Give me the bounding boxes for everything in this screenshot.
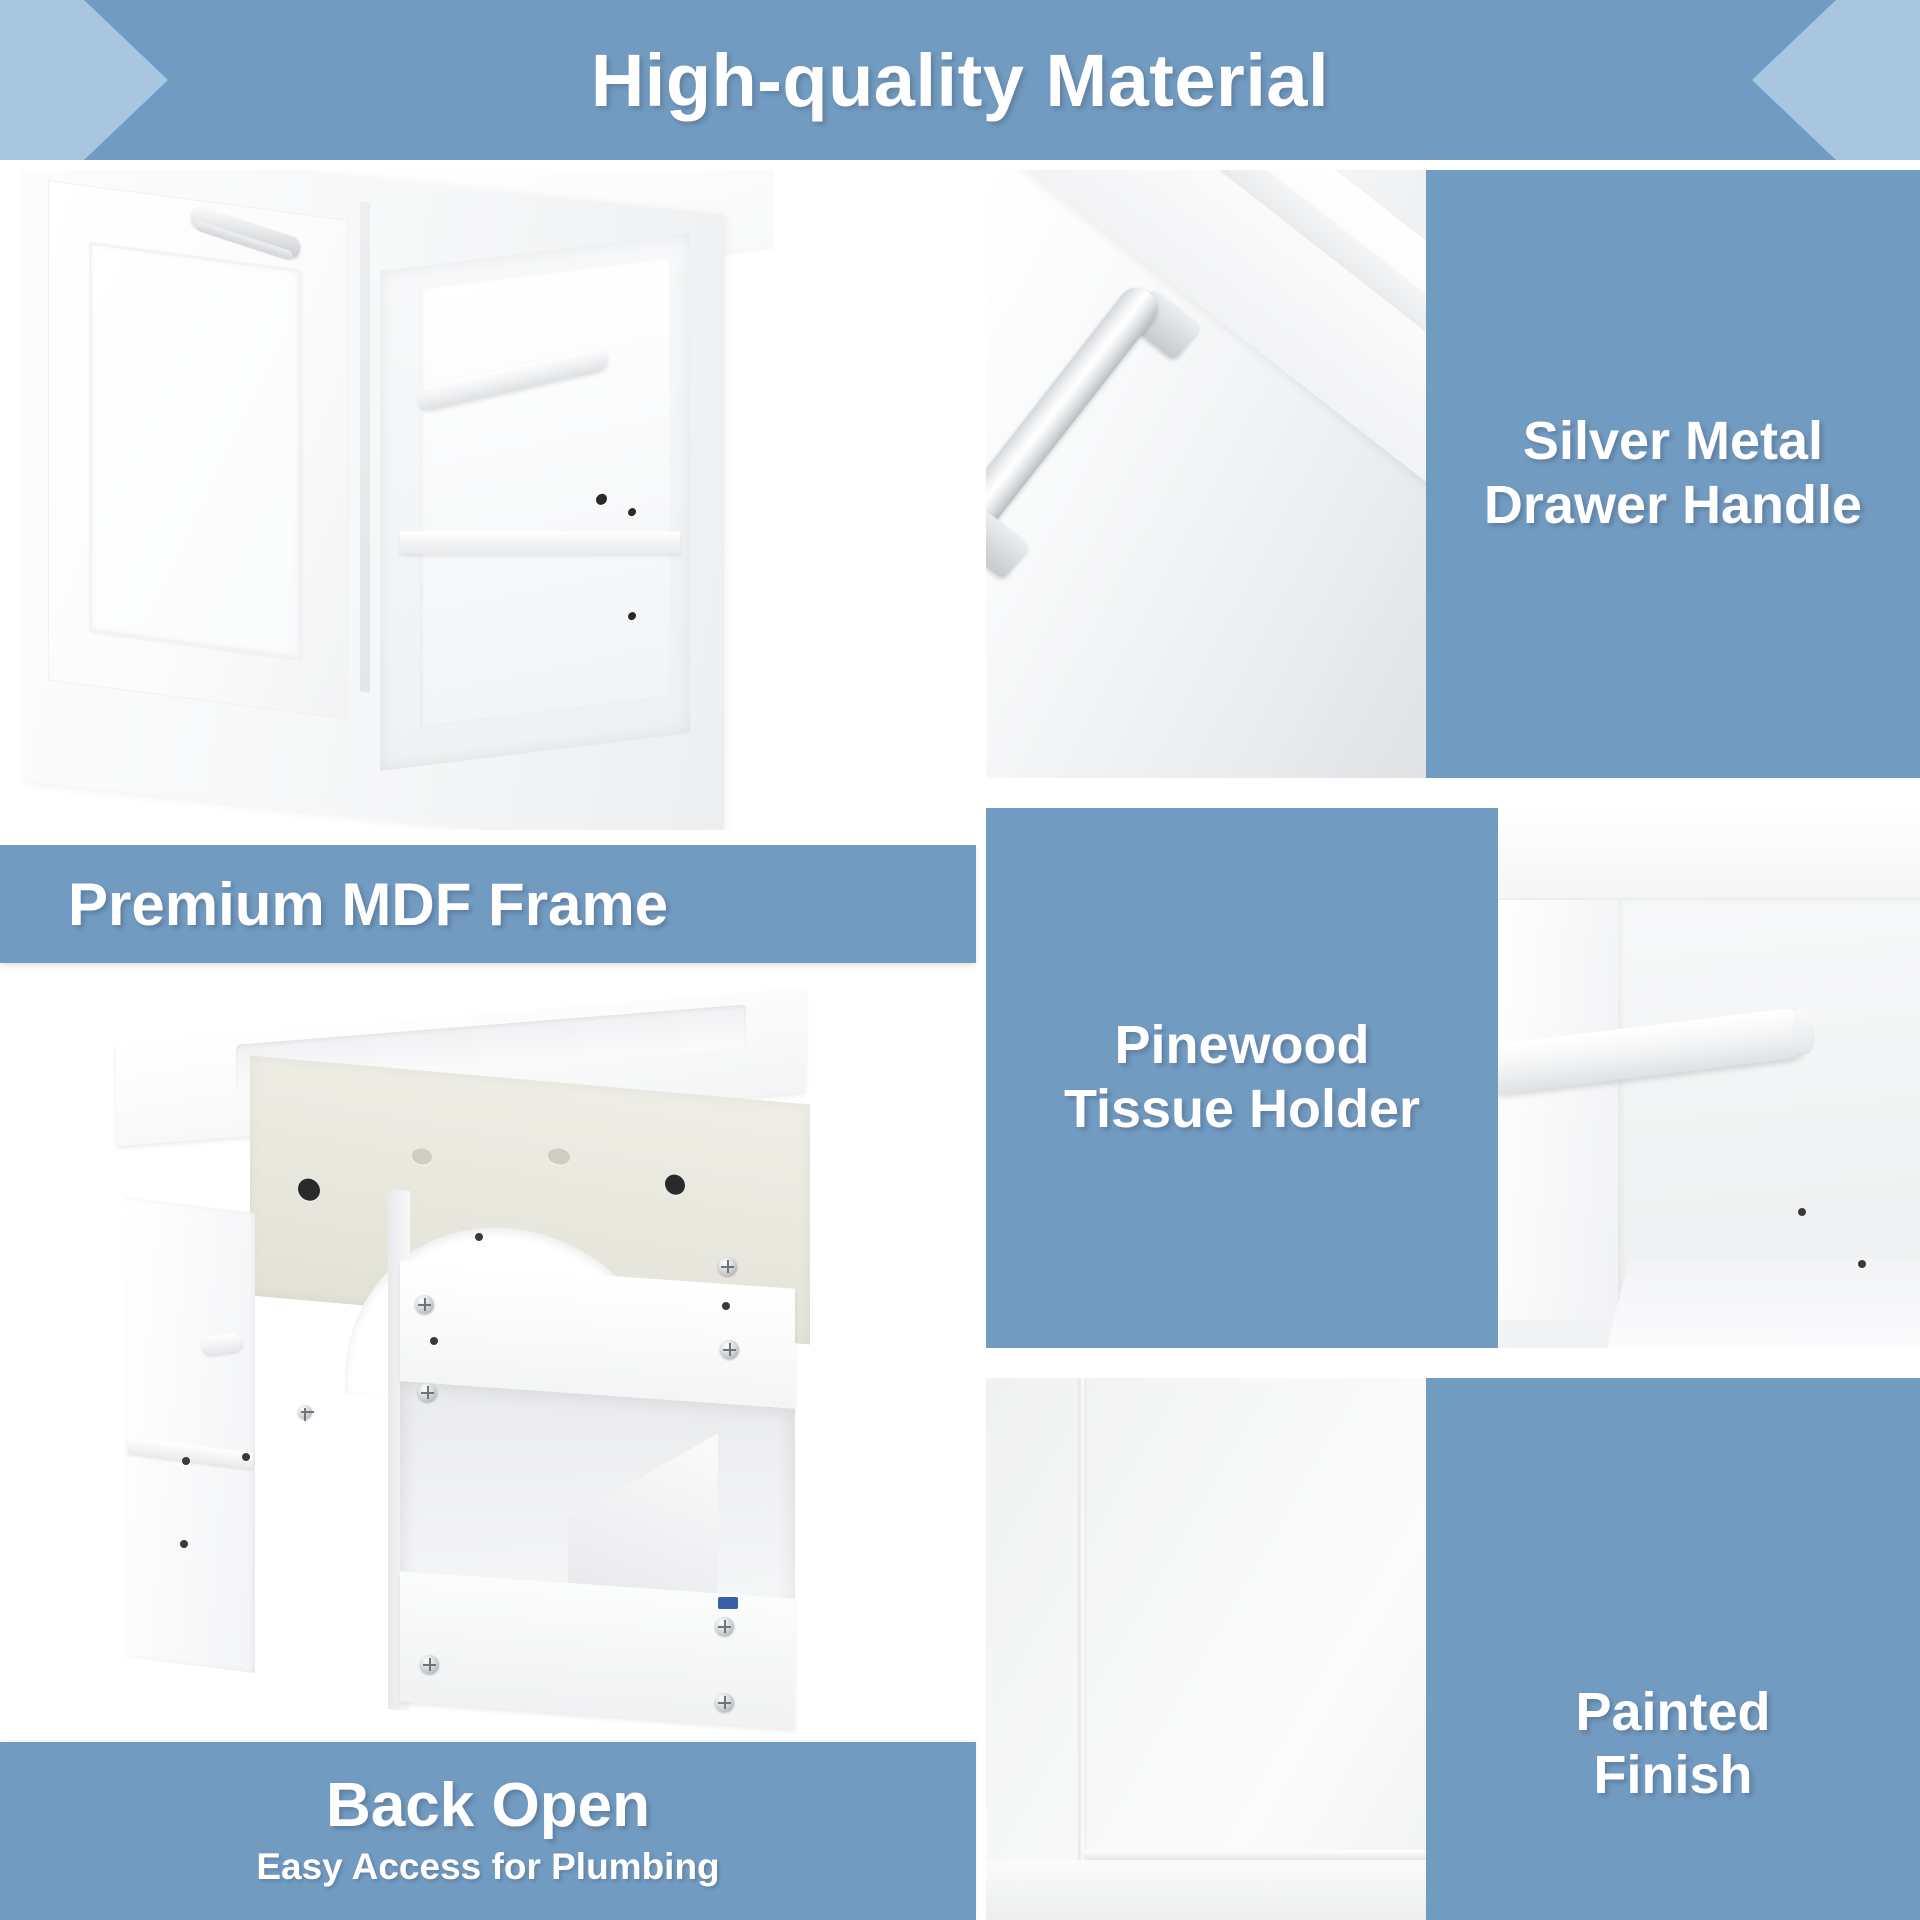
assembly-screw xyxy=(715,1617,734,1636)
shelf-back-wall xyxy=(420,257,670,728)
feature-label-premium-mdf-frame: Premium MDF Frame xyxy=(0,845,976,963)
header-banner: High-quality Material xyxy=(0,0,1920,170)
plumbing-hole xyxy=(298,1178,320,1202)
feature-label-pinewood-tissue-holder: Pinewood Tissue Holder xyxy=(986,808,1498,1348)
feature-label-back-open: Back Open Easy Access for Plumbing xyxy=(0,1742,976,1920)
assembly-screw xyxy=(418,1383,437,1402)
door-bevel-edge xyxy=(1084,1850,1426,1860)
door-groove-line xyxy=(1078,1378,1084,1920)
pilot-hole xyxy=(722,1302,730,1310)
door-edge-gap xyxy=(360,201,370,692)
drawer-handle-photo xyxy=(986,170,1426,778)
feature-label-line-1: Painted xyxy=(1426,1681,1920,1745)
pilot-hole xyxy=(242,1453,250,1461)
feature-card-pinewood-tissue-holder: Pinewood Tissue Holder xyxy=(986,808,1920,1348)
feature-image-premium-mdf-frame xyxy=(0,170,940,830)
pilot-hole xyxy=(1798,1208,1806,1216)
door-lower-rail xyxy=(986,1860,1426,1920)
open-side-shelf xyxy=(380,233,690,771)
plumbing-hole xyxy=(548,1148,570,1166)
pilot-hole xyxy=(475,1233,483,1241)
pilot-hole xyxy=(182,1457,190,1465)
feature-card-silver-metal-drawer-handle: Silver Metal Drawer Handle xyxy=(986,170,1920,778)
feature-label-painted-finish: Painted Finish xyxy=(1426,1378,1920,1920)
page-title: High-quality Material xyxy=(0,0,1920,160)
assembly-screw xyxy=(420,1655,439,1674)
feature-label-line-2: Finish xyxy=(1426,1744,1920,1808)
cabinet-rear-photo xyxy=(0,975,976,1743)
pilot-hole xyxy=(180,1540,188,1548)
infographic-page: High-quality Material Premium MDF Fram xyxy=(0,0,1920,1920)
feature-label-line-2: Tissue Holder xyxy=(986,1078,1498,1142)
painted-finish-photo xyxy=(986,1378,1426,1920)
shelf-floor xyxy=(1607,1258,1920,1348)
silver-handle-icon xyxy=(986,280,1222,593)
cabinet-door xyxy=(48,180,348,719)
feature-label-line-1: Pinewood xyxy=(986,1014,1498,1078)
assembly-screw xyxy=(715,1693,734,1712)
feature-label-line-1: Silver Metal xyxy=(1426,410,1920,474)
rear-bottom-rail xyxy=(400,1571,795,1729)
shelf-side-wall xyxy=(1498,900,1620,1320)
shelf-board xyxy=(400,531,680,553)
shelf-back-wall xyxy=(1618,900,1920,1320)
cabinet-three-quarter-photo xyxy=(0,170,940,830)
pilot-hole xyxy=(430,1337,438,1345)
feature-sublabel-text: Easy Access for Plumbing xyxy=(256,1846,719,1888)
feature-label-line-2: Drawer Handle xyxy=(1426,474,1920,538)
feature-label-text: Back Open xyxy=(326,1774,650,1837)
blue-label-mark xyxy=(718,1597,738,1609)
pilot-hole xyxy=(1858,1260,1866,1268)
feature-label-silver-metal-drawer-handle: Silver Metal Drawer Handle xyxy=(1426,170,1920,778)
feature-image-back-open xyxy=(0,975,976,1743)
interior-divider xyxy=(568,1423,718,1593)
plumbing-hole xyxy=(412,1148,432,1166)
feature-card-painted-finish: Painted Finish xyxy=(986,1378,1920,1920)
assembly-screw xyxy=(298,1405,312,1419)
assembly-screw xyxy=(415,1295,434,1314)
shelf-top-board xyxy=(1498,808,1920,898)
plumbing-hole xyxy=(665,1174,685,1196)
drawer-handle-icon xyxy=(190,204,302,260)
feature-label-text: Premium MDF Frame xyxy=(0,870,668,939)
tissue-holder-photo xyxy=(1498,808,1920,1348)
door-raised-panel xyxy=(89,242,301,660)
left-open-shelf-side xyxy=(125,1197,255,1673)
assembly-screw xyxy=(720,1340,739,1359)
assembly-screw xyxy=(718,1257,737,1276)
